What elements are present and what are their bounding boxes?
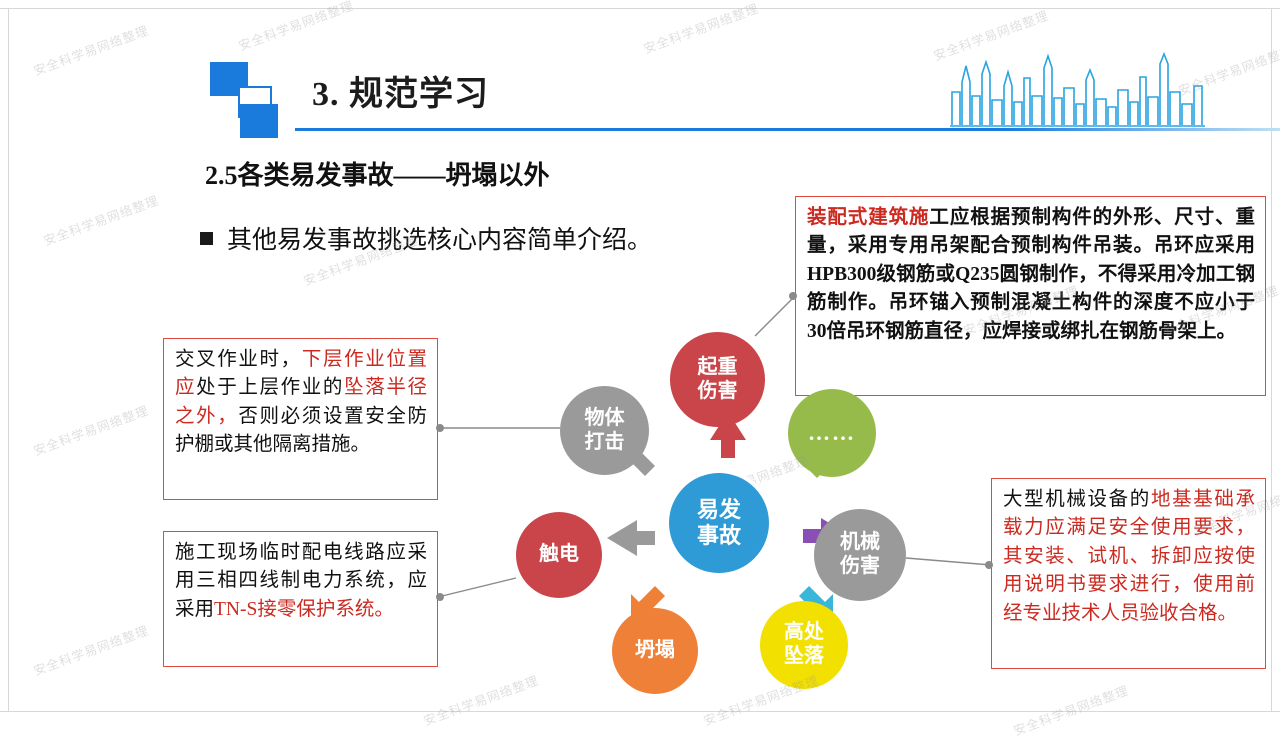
node-more-line1: …… <box>808 420 856 446</box>
node-gaochu-line2: 坠落 <box>784 645 824 669</box>
node-gaochu[interactable]: 高处 坠落 <box>760 601 848 689</box>
node-qizhong[interactable]: 起重 伤害 <box>670 332 765 427</box>
node-wuti-line2: 打击 <box>585 431 625 455</box>
node-qizhong-line2: 伤害 <box>698 380 738 404</box>
node-center-line1: 易发 <box>697 497 741 523</box>
node-jixie-line2: 伤害 <box>840 555 880 579</box>
node-center[interactable]: 易发 事故 <box>669 473 769 573</box>
node-wuti[interactable]: 物体 打击 <box>560 386 649 475</box>
node-tanta-line1: 坍塌 <box>635 639 675 663</box>
node-tanta[interactable]: 坍塌 <box>612 608 698 694</box>
node-chudian-line1: 触电 <box>539 543 579 567</box>
node-center-line2: 事故 <box>697 523 741 549</box>
node-chudian[interactable]: 触电 <box>516 512 602 598</box>
node-more[interactable]: …… <box>788 389 876 477</box>
node-gaochu-line1: 高处 <box>784 621 824 645</box>
slide: 3. 规范学习 2.5各类易发事故——坍塌以外 其他易发事故挑选核心内容简单介绍… <box>0 0 1280 720</box>
node-wuti-line1: 物体 <box>585 407 625 431</box>
node-jixie[interactable]: 机械 伤害 <box>814 509 906 601</box>
node-qizhong-line1: 起重 <box>698 356 738 380</box>
node-jixie-line1: 机械 <box>840 531 880 555</box>
